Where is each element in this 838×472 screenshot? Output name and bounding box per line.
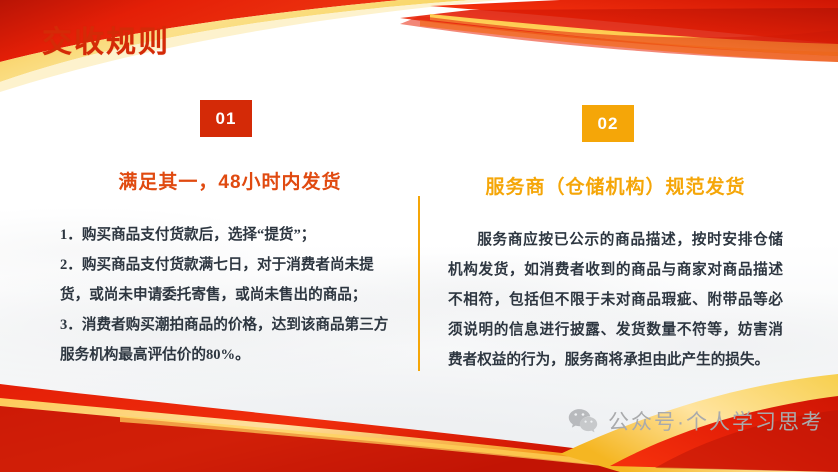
badge-number-02: 02: [582, 105, 634, 142]
column-body-01: 1．购买商品支付货款后，选择“提货”；2．购买商品支付货款满七日，对于消费者尚未…: [60, 221, 400, 371]
wechat-icon: [568, 408, 598, 434]
watermark-text: 公众号·个人学习思考: [608, 406, 824, 436]
wechat-icon-glyph: [568, 408, 598, 434]
column-divider: [418, 196, 420, 371]
page-title: 交收规则: [42, 24, 170, 62]
column-heading-02: 服务商（仓储机构）规范发货: [448, 172, 783, 199]
slide-canvas: 交收规则 01 满足其一，48小时内发货 1．购买商品支付货款后，选择“提货”；…: [0, 0, 838, 472]
rule-column-01: 01 满足其一，48小时内发货 1．购买商品支付货款后，选择“提货”；2．购买商…: [60, 100, 400, 371]
column-heading-01: 满足其一，48小时内发货: [60, 167, 400, 194]
rule-column-02: 02 服务商（仓储机构）规范发货 服务商应按已公示的商品描述，按时安排仓储机构发…: [448, 100, 783, 376]
column-body-02: 服务商应按已公示的商品描述，按时安排仓储机构发货，如消费者收到的商品与商家对商品…: [448, 226, 783, 376]
badge-number-01: 01: [200, 100, 252, 137]
wechat-watermark: 公众号·个人学习思考: [568, 406, 824, 436]
